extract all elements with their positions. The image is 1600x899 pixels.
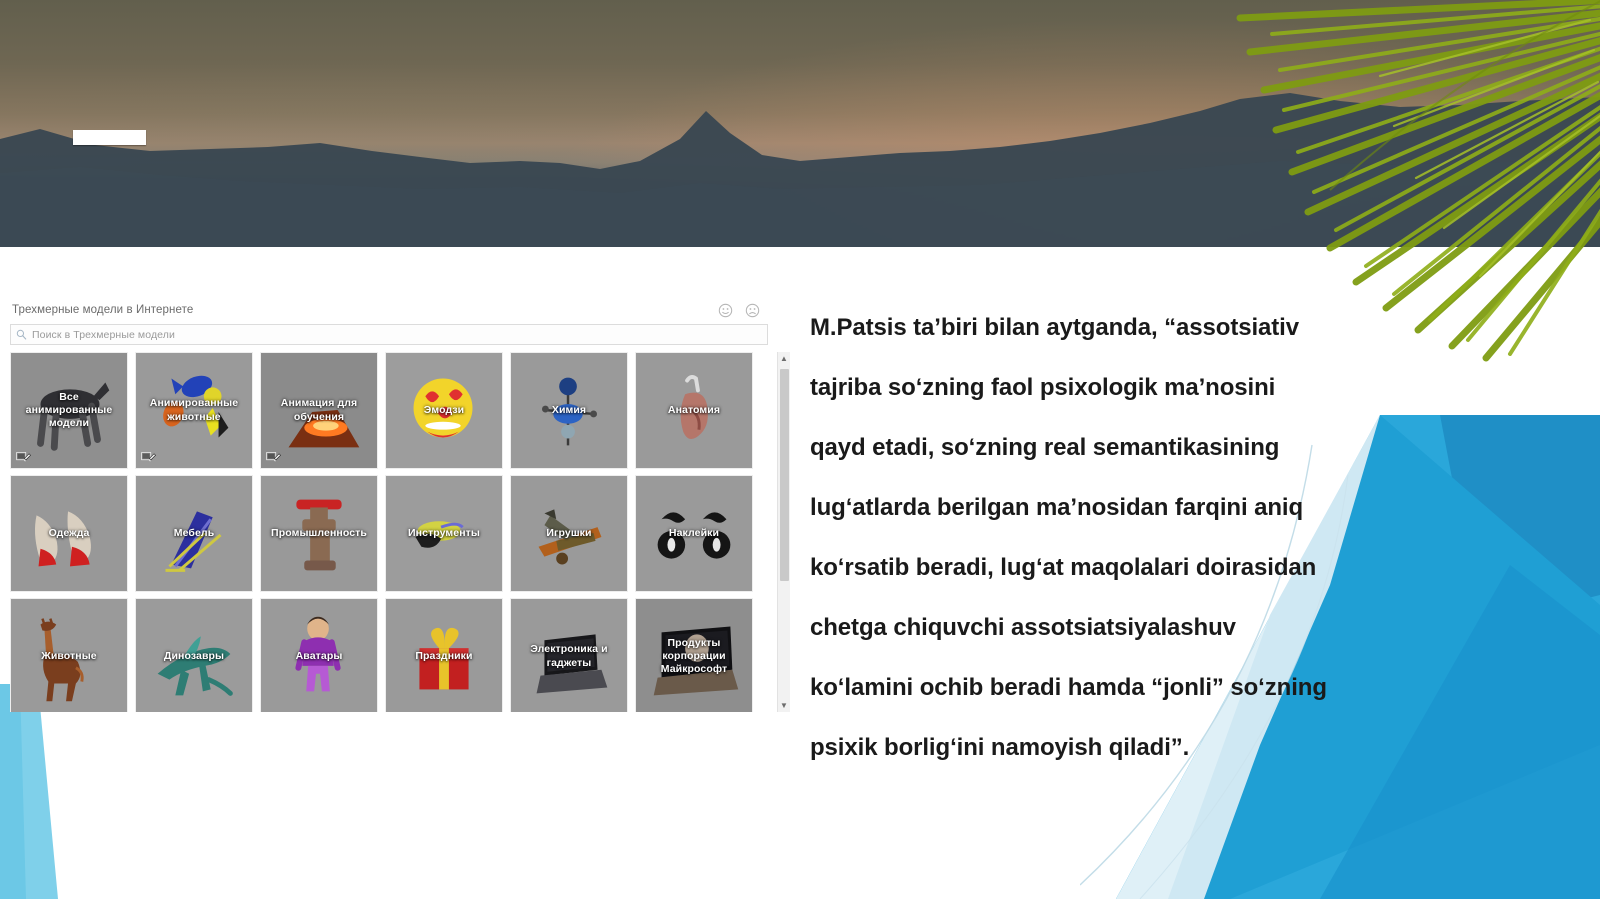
slide-root: Трехмерные модели в Интернете bbox=[0, 0, 1600, 899]
model-card-label: Электроника и гаджеты bbox=[517, 643, 621, 669]
model-card[interactable]: Продукты корпорации Майкрософт bbox=[635, 598, 753, 712]
model-card-label: Анатомия bbox=[642, 404, 746, 417]
model-card[interactable]: Электроника и гаджеты bbox=[510, 598, 628, 712]
model-card[interactable]: Анимированные животные bbox=[135, 352, 253, 469]
model-card-label: Анимация для обучения bbox=[267, 397, 371, 423]
quote-line: lug‘atlarda berilgan ma’nosidan farqini … bbox=[810, 478, 1510, 538]
animated-model-badge-icon bbox=[16, 451, 31, 464]
scroll-thumb[interactable] bbox=[780, 369, 789, 581]
quote-line: M.Patsis ta’biri bilan aytganda, “assots… bbox=[810, 298, 1510, 358]
panel-actions bbox=[718, 303, 788, 318]
quote-text-block: M.Patsis ta’biri bilan aytganda, “assots… bbox=[810, 298, 1510, 778]
model-card[interactable]: Игрушки bbox=[510, 475, 628, 592]
panel-title: Трехмерные модели в Интернете bbox=[12, 304, 718, 316]
model-card-label: Наклейки bbox=[642, 527, 746, 540]
model-card-label: Продукты корпорации Майкрософт bbox=[642, 637, 746, 676]
quote-line: tajriba so‘zning faol psixologik ma’nosi… bbox=[810, 358, 1510, 418]
model-card-label: Динозавры bbox=[142, 650, 246, 663]
banner-white-marker bbox=[73, 130, 146, 145]
model-card-label: Анимированные животные bbox=[142, 397, 246, 423]
frowny-face-icon[interactable] bbox=[745, 303, 760, 318]
model-card-label: Эмодзи bbox=[392, 404, 496, 417]
model-card-label: Аватары bbox=[267, 650, 371, 663]
model-card[interactable]: Одежда bbox=[10, 475, 128, 592]
model-card-label: Промышленность bbox=[267, 527, 371, 540]
model-card[interactable]: Праздники bbox=[385, 598, 503, 712]
model-card[interactable]: Наклейки bbox=[635, 475, 753, 592]
smiley-face-icon[interactable] bbox=[718, 303, 733, 318]
model-card-label: Мебель bbox=[142, 527, 246, 540]
models-grid[interactable]: Все анимированные модели Анимированные ж… bbox=[10, 352, 772, 712]
model-card[interactable]: Химия bbox=[510, 352, 628, 469]
banner-photo bbox=[0, 0, 1600, 247]
quote-line: ko‘rsatib beradi, lug‘at maqolalari doir… bbox=[810, 538, 1510, 598]
model-card[interactable]: Животные bbox=[10, 598, 128, 712]
model-card-label: Инструменты bbox=[392, 527, 496, 540]
model-card[interactable]: Эмодзи bbox=[385, 352, 503, 469]
quote-line: ko‘lamini ochib beradi hamda “jonli” so‘… bbox=[810, 658, 1510, 718]
model-card-label: Праздники bbox=[392, 650, 496, 663]
quote-line: psixik borlig‘ini namoyish qiladi”. bbox=[810, 718, 1510, 778]
model-card-label: Все анимированные модели bbox=[17, 391, 121, 430]
model-card[interactable]: Мебель bbox=[135, 475, 253, 592]
animated-model-badge-icon bbox=[141, 451, 156, 464]
quote-line: chetga chiquvchi assotsiatsiyalashuv bbox=[810, 598, 1510, 658]
model-card[interactable]: Инструменты bbox=[385, 475, 503, 592]
model-card[interactable]: Анимация для обучения bbox=[260, 352, 378, 469]
scroll-down-arrow[interactable]: ▼ bbox=[778, 699, 791, 712]
animated-model-badge-icon bbox=[266, 451, 281, 464]
search-input[interactable]: Поиск в Трехмерные модели bbox=[10, 324, 768, 345]
model-card[interactable]: Динозавры bbox=[135, 598, 253, 712]
model-card[interactable]: Анатомия bbox=[635, 352, 753, 469]
models-grid-wrap: Все анимированные модели Анимированные ж… bbox=[10, 352, 790, 712]
scroll-up-arrow[interactable]: ▲ bbox=[778, 352, 791, 365]
model-card-label: Животные bbox=[17, 650, 121, 663]
model-card-label: Химия bbox=[517, 404, 621, 417]
search-placeholder: Поиск в Трехмерные модели bbox=[32, 329, 175, 341]
bottom-left-blue-wedge bbox=[0, 684, 200, 899]
scroll-track[interactable] bbox=[778, 365, 791, 699]
model-card-label: Одежда bbox=[17, 527, 121, 540]
model-card[interactable]: Промышленность bbox=[260, 475, 378, 592]
model-card-label: Игрушки bbox=[517, 527, 621, 540]
3d-models-panel[interactable]: Трехмерные модели в Интернете bbox=[10, 300, 790, 712]
panel-header: Трехмерные модели в Интернете bbox=[10, 300, 790, 320]
search-icon bbox=[16, 329, 27, 340]
quote-line: qayd etadi, so‘zning real semantikasinin… bbox=[810, 418, 1510, 478]
vertical-scrollbar[interactable]: ▲ ▼ bbox=[777, 352, 790, 712]
mountain-ridge-silhouette bbox=[0, 77, 1600, 247]
model-card[interactable]: Все анимированные модели bbox=[10, 352, 128, 469]
model-card[interactable]: Аватары bbox=[260, 598, 378, 712]
